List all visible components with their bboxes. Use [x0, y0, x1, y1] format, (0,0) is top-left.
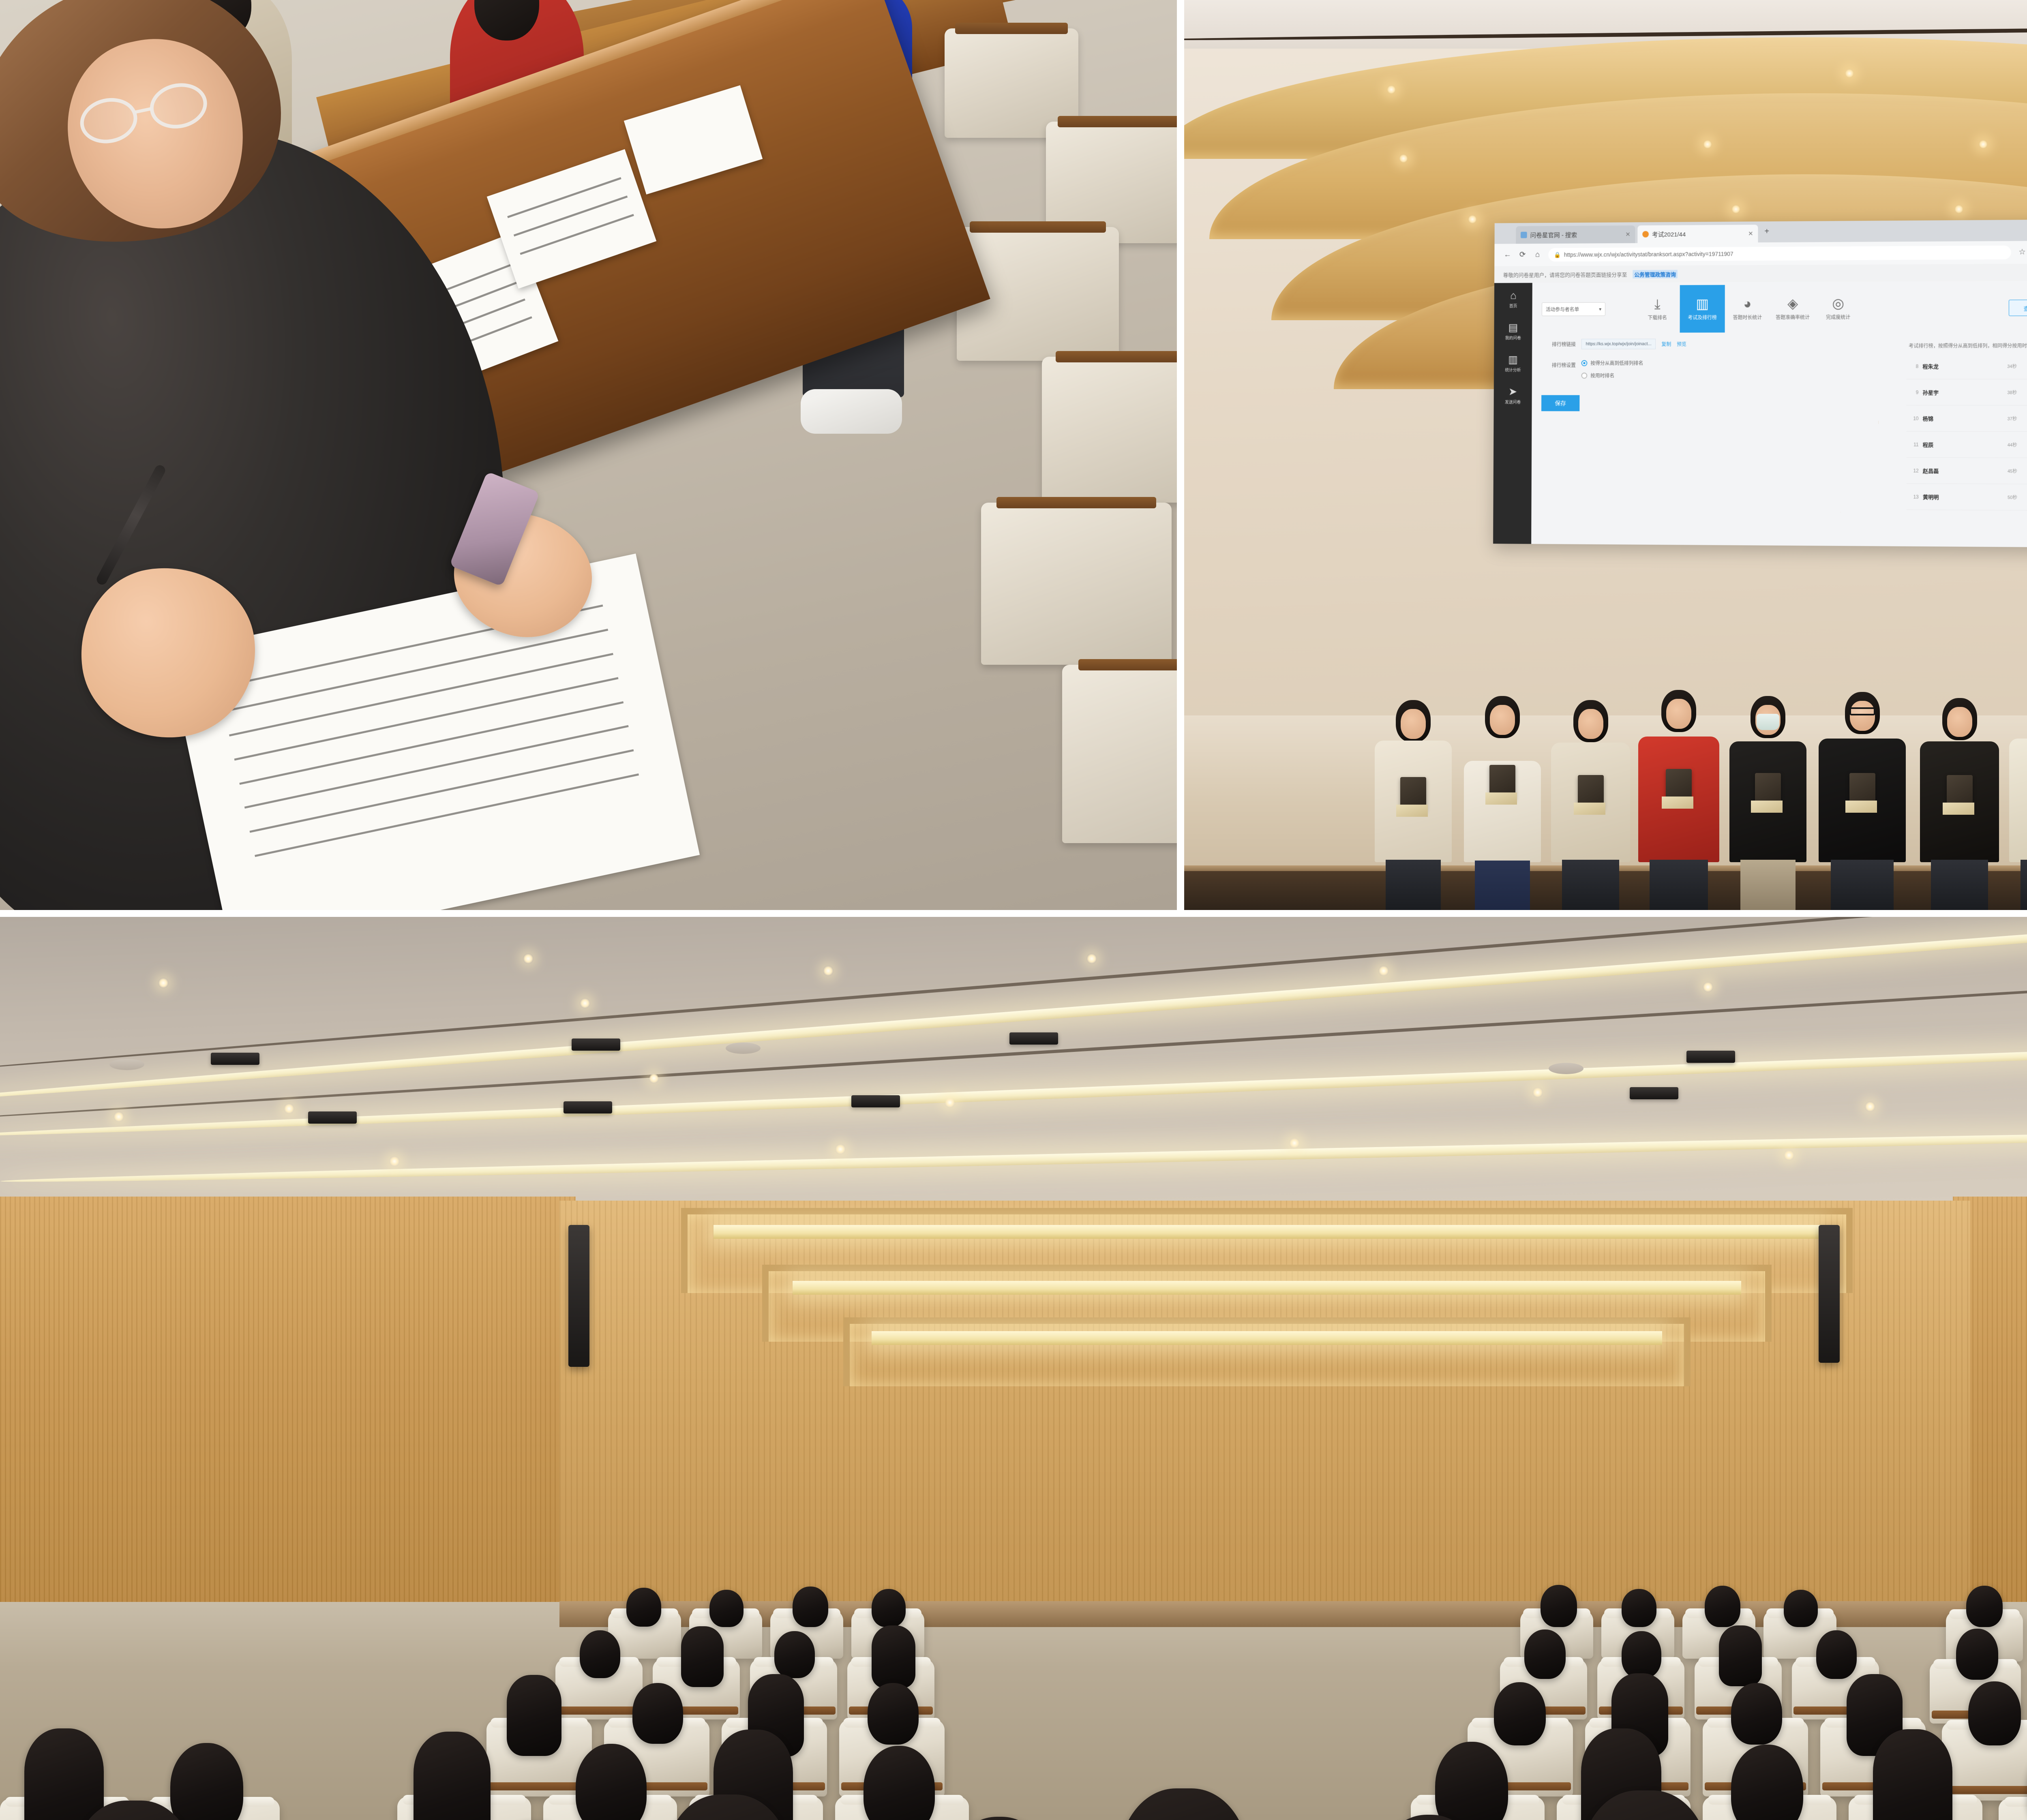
person-face: [1490, 705, 1515, 735]
rank-value: 9: [1906, 390, 1922, 395]
app-sidebar: ⌂ 首页 ▤ 我的问卷 ▥ 统计分析 ➤ 发送问卷: [1493, 283, 1532, 544]
ranking-mode-options: 按得分从高到低排列排名 按用时排名: [1581, 360, 1643, 385]
ranking-table: 考试排行榜，按照得分从高到低排列，相同得分按用时排序。 8 程朱龙 34秒 90…: [1906, 342, 2027, 511]
notice-text: 尊敬的问卷星用户，请将您的问卷答题页面链接分享至: [1503, 270, 1627, 278]
ceiling-downlight: [523, 953, 534, 964]
ceiling-downlight: [1865, 1101, 1875, 1112]
radio-sort-by-time[interactable]: 按用时排名: [1581, 372, 1643, 379]
mode-label: 排行榜设置: [1541, 360, 1575, 369]
audience-head: [872, 1625, 915, 1688]
person-legs: [1650, 860, 1708, 910]
audience-head: [580, 1630, 620, 1678]
rank-value: 12: [1906, 468, 1922, 473]
ceiling-downlight: [1086, 953, 1097, 964]
name-value: 赵昌磊: [1923, 467, 2008, 475]
ceiling-downlight: [823, 966, 834, 976]
audience-head: [1968, 1681, 2021, 1745]
audience-head: [709, 1590, 744, 1627]
table-row: 8 程朱龙 34秒 90 🗑: [1906, 353, 2027, 379]
sidebar-label: 发送问卷: [1505, 399, 1521, 405]
name-value: 程朱龙: [1923, 362, 2008, 370]
table-row: 11 程辰 44秒 90 🗑: [1906, 432, 2027, 458]
tab-close-icon[interactable]: ✕: [1625, 231, 1630, 238]
ceiling-downlight: [158, 978, 169, 988]
radio-label: 按得分从高到低排列排名: [1590, 360, 1643, 366]
stat-toolbar: 活动参与者名单 ▾ ⤓ 下载排名 ▥ 考试及排行榜 ◕: [1532, 280, 2027, 336]
person-legs: [1386, 860, 1441, 910]
url-input[interactable]: 🔒 https://www.wjx.cn/wjx/activitystat/br…: [1548, 246, 2011, 262]
app-main-area: 活动参与者名单 ▾ ⤓ 下载排名 ▥ 考试及排行榜 ◕: [1531, 280, 2027, 547]
photo-collage: 问卷星官网 - 搜索 ✕ 考试2021/44 ✕ + ← ⟳ ⌂ 🔒 https…: [0, 0, 2027, 1820]
table-row: 10 杨锦 37秒 90 🗑: [1906, 405, 2027, 432]
projected-browser-screen: 问卷星官网 - 搜索 ✕ 考试2021/44 ✕ + ← ⟳ ⌂ 🔒 https…: [1493, 219, 2027, 547]
browser-tab-inactive[interactable]: 问卷星官网 - 搜索 ✕: [1516, 225, 1635, 244]
panel-auditorium-wide: NUAA 民航学院2022级研究生法制以及安全警示教育 大会 2022年11月: [0, 917, 2027, 1820]
audience-head: [414, 1732, 491, 1820]
tool-accuracy-stat[interactable]: ◈ 答题准确率统计: [1770, 285, 1815, 332]
radio-sort-by-score[interactable]: 按得分从高到低排列排名: [1581, 360, 1643, 366]
tab-close-icon[interactable]: ✕: [1748, 230, 1753, 237]
tool-label: 答题准确率统计: [1776, 314, 1810, 321]
ceiling-downlight: [284, 1103, 294, 1114]
audience-head: [626, 1588, 661, 1627]
sidebar-item-my-surveys[interactable]: ▤ 我的问卷: [1505, 322, 1521, 341]
ranking-mode-row: 排行榜设置 按得分从高到低排列排名 按用时排名: [1541, 360, 1847, 385]
rank-value: 11: [1906, 441, 1922, 447]
ceiling-downlight: [945, 1097, 955, 1108]
ceiling-downlight: [1289, 1138, 1300, 1148]
send-icon: ➤: [1508, 386, 1517, 397]
award-notebook: [1755, 773, 1781, 807]
audience-head: [1966, 1586, 2003, 1627]
audience-head: [1784, 1590, 1818, 1627]
home-icon[interactable]: ⌂: [1533, 251, 1542, 259]
lock-icon: 🔒: [1554, 251, 1561, 258]
browser-url-bar: ← ⟳ ⌂ 🔒 https://www.wjx.cn/wjx/activitys…: [1494, 241, 2027, 266]
sidebar-label: 我的问卷: [1505, 334, 1521, 340]
sidebar-label: 首页: [1509, 302, 1517, 308]
ceiling-downlight: [1731, 205, 1740, 214]
select-value: 活动参与者名单: [1546, 306, 1579, 313]
person-legs: [1931, 860, 1988, 910]
tool-completion-stat[interactable]: ◎ 完成度统计: [1815, 285, 1861, 332]
new-tab-button[interactable]: +: [1764, 227, 1769, 236]
radio-icon: [1581, 373, 1587, 379]
seat-row-item: [981, 503, 1172, 665]
url-text: https://www.wjx.cn/wjx/activitystat/bran…: [1564, 251, 1733, 258]
award-recipient: [1920, 698, 1999, 862]
audience-head: [1494, 1682, 1546, 1745]
ceiling-speaker: [308, 1111, 357, 1124]
audience-head: [576, 1744, 647, 1820]
favorite-icon[interactable]: ☆: [2018, 248, 2027, 257]
check-circle-icon: ◎: [1832, 296, 1844, 310]
ceiling-speaker: [1009, 1032, 1058, 1045]
name-value: 程辰: [1923, 441, 2008, 449]
person-face: [1401, 709, 1426, 739]
time-value: 38秒: [2007, 389, 2027, 396]
audience-head: [1524, 1629, 1566, 1679]
ceiling-downlight: [1784, 1150, 1794, 1161]
audience-head: [872, 1589, 906, 1627]
ceiling-speaker: [1686, 1051, 1735, 1063]
stage-light-band: [714, 1225, 1820, 1239]
person-legs: [1562, 860, 1619, 910]
reload-icon[interactable]: ⟳: [1518, 251, 1527, 259]
award-recipient: [1551, 700, 1630, 862]
table-row: 12 赵昌磊 45秒 90 🗑: [1906, 458, 2027, 484]
audience-head: [1541, 1585, 1577, 1627]
face-mask-icon: [1757, 714, 1779, 730]
ceiling-speaker: [851, 1095, 900, 1107]
ceiling-downlight: [1468, 215, 1477, 224]
award-recipient: [1729, 696, 1806, 862]
award-notebook: [1947, 775, 1973, 809]
audience-head: [24, 1728, 104, 1820]
person-legs: [1740, 860, 1796, 910]
tool-label: 下载排名: [1648, 314, 1667, 321]
audience-head: [1873, 1729, 1952, 1820]
ceiling-downlight: [1845, 69, 1854, 78]
ceiling-downlight: [1378, 966, 1389, 976]
award-notebook: [1666, 769, 1692, 803]
ceiling-downlight: [1954, 205, 1963, 214]
ceiling-vent: [109, 1059, 144, 1070]
ceiling-downlight: [1387, 85, 1396, 94]
clock-icon: ◕: [1743, 297, 1751, 310]
person-legs: [1475, 861, 1530, 910]
person-torso: [2009, 739, 2027, 862]
tool-label: 完成度统计: [1826, 313, 1850, 320]
audience-head: [1719, 1625, 1762, 1686]
line-array-speaker: [1819, 1225, 1840, 1363]
ceiling-downlight: [389, 1156, 400, 1167]
person-face: [1666, 699, 1691, 729]
sidebar-item-analysis[interactable]: ▥ 统计分析: [1505, 354, 1521, 373]
ceiling-downlight: [835, 1144, 846, 1154]
browser-tab-bar: 问卷星官网 - 搜索 ✕ 考试2021/44 ✕ +: [1495, 219, 2027, 244]
name-value: 黄明明: [1923, 493, 2008, 501]
audience-head: [681, 1626, 724, 1687]
audience-head: [774, 1631, 815, 1678]
award-recipient: [1819, 692, 1906, 862]
person-face: [1850, 701, 1875, 731]
award-notebook: [1578, 775, 1604, 809]
audience-seat: [1999, 1799, 2027, 1820]
seat-row-item: [1062, 665, 1177, 843]
ceiling-vent: [726, 1043, 761, 1054]
student-shoe: [801, 389, 902, 434]
ceiling-downlight: [1399, 154, 1408, 163]
preview-button[interactable]: 预览: [1677, 339, 1686, 348]
audience-head: [1622, 1631, 1661, 1678]
time-value: 44秒: [2008, 441, 2027, 448]
radio-icon-selected: [1581, 360, 1588, 366]
name-value: 孙星宇: [1923, 388, 2008, 396]
target-icon: ◈: [1787, 297, 1798, 310]
ceiling-downlight: [1703, 982, 1713, 992]
person-legs: [1831, 860, 1894, 910]
audience-head: [1956, 1629, 1998, 1680]
table-row: 9 孙星宇 38秒 90 🗑: [1906, 379, 2027, 406]
line-array-speaker: [568, 1225, 589, 1367]
ceiling-speaker: [211, 1053, 259, 1065]
save-button[interactable]: 保存: [1541, 395, 1579, 411]
radio-label: 按用时排名: [1590, 372, 1614, 379]
ceiling-speaker: [572, 1038, 620, 1051]
seat-row-item: [1042, 357, 1177, 503]
time-value: 45秒: [2008, 468, 2027, 474]
audience-head: [632, 1683, 683, 1744]
left-wood-wall: [0, 1197, 576, 1606]
tool-label: 答题时长统计: [1733, 314, 1762, 321]
audience-head: [868, 1683, 919, 1745]
tab-label: 考试2021/44: [1652, 230, 1686, 238]
audience-head: [1705, 1586, 1740, 1627]
tab-favicon-search: [1521, 232, 1527, 238]
time-value: 34秒: [2007, 363, 2027, 369]
ceiling-vent: [1549, 1063, 1583, 1074]
person-legs: [2021, 860, 2027, 910]
award-recipient: [1464, 696, 1541, 862]
ranking-settings-form: 排行榜链接 https://ks.wjx.top/wjx/join/joinac…: [1541, 338, 1847, 411]
eyeglasses-icon: [1849, 707, 1875, 715]
ceiling-downlight: [1703, 140, 1712, 149]
sidebar-item-home[interactable]: ⌂ 首页: [1509, 290, 1517, 308]
award-recipient: [1375, 700, 1452, 862]
stage-light-frame-inner: [843, 1317, 1691, 1386]
sidebar-item-send[interactable]: ➤ 发送问卷: [1505, 386, 1521, 405]
stage-light-band: [872, 1331, 1662, 1345]
sidebar-label: 统计分析: [1505, 366, 1521, 373]
browser-tab-active[interactable]: 考试2021/44 ✕: [1637, 225, 1758, 243]
ranking-icon: ▥: [1696, 297, 1709, 310]
audience-head: [1731, 1683, 1782, 1745]
time-value: 37秒: [2008, 415, 2027, 422]
award-notebook: [1400, 777, 1426, 811]
rank-value: 8: [1906, 363, 1922, 369]
tool-download-ranking[interactable]: ⤓ 下载排名: [1635, 285, 1680, 332]
ceiling-speaker: [564, 1101, 612, 1113]
tool-label: 考试及排行榜: [1688, 314, 1716, 321]
name-value: 杨锦: [1923, 414, 2008, 422]
time-value: 50秒: [2008, 494, 2027, 501]
audience-head: [1816, 1630, 1857, 1679]
tool-exam-ranking[interactable]: ▥ 考试及排行榜: [1680, 285, 1725, 333]
tab-favicon-wjx: [1642, 231, 1649, 238]
copy-button[interactable]: 复制: [1661, 339, 1671, 348]
person-face: [1578, 709, 1603, 739]
document-icon: ▤: [1508, 322, 1518, 333]
panel-divider-horizontal: [0, 910, 2027, 917]
notice-link[interactable]: 公务管理政策咨询: [1633, 270, 1678, 278]
rank-value: 10: [1906, 415, 1922, 421]
ceiling-downlight: [1532, 1087, 1543, 1098]
download-icon: ⤓: [1654, 297, 1661, 311]
audience-head: [793, 1587, 828, 1627]
tool-duration-stat[interactable]: ◕ 答题时长统计: [1725, 285, 1770, 333]
browser-content: ⌂ 首页 ▤ 我的问卷 ▥ 统计分析 ➤ 发送问卷: [1493, 280, 2027, 547]
ranking-link-value[interactable]: https://ks.wjx.top/wjx/join/joinact...: [1581, 339, 1656, 349]
audience-head: [1622, 1589, 1656, 1627]
audience-head: [507, 1675, 561, 1756]
panel-students-signing: [0, 0, 1177, 910]
view-full-ranking-button[interactable]: 查看全部榜单: [2009, 300, 2027, 316]
link-label: 排行榜链接: [1542, 339, 1576, 348]
chart-icon: ▥: [1508, 354, 1518, 365]
rank-value: 13: [1907, 494, 1923, 499]
home-icon: ⌂: [1510, 290, 1516, 301]
ceiling-speaker: [1630, 1087, 1678, 1099]
ranking-link-row: 排行榜链接 https://ks.wjx.top/wjx/join/joinac…: [1542, 338, 1848, 349]
award-notebook: [1489, 765, 1515, 799]
panel-divider-vertical: [1177, 0, 1184, 910]
ceiling-downlight: [114, 1111, 124, 1122]
back-arrow-icon[interactable]: ←: [1503, 251, 1512, 259]
ceiling-downlight: [1979, 140, 1988, 149]
chevron-down-icon: ▾: [1599, 306, 1601, 312]
activity-select[interactable]: 活动参与者名单 ▾: [1542, 302, 1605, 316]
person-face: [1947, 707, 1972, 737]
ranking-header-note: 考试排行榜，按照得分从高到低排列，相同得分按用时排序。: [1906, 342, 2027, 353]
ceiling-downlight: [649, 1073, 659, 1083]
award-recipient: [2009, 692, 2027, 862]
tab-label: 问卷星官网 - 搜索: [1530, 230, 1577, 239]
table-row: 13 黄明明 50秒 90 🗑: [1907, 484, 2027, 511]
award-notebook: [1849, 773, 1875, 807]
panel-award-group-photo: 问卷星官网 - 搜索 ✕ 考试2021/44 ✕ + ← ⟳ ⌂ 🔒 https…: [1184, 0, 2027, 910]
site-notice-bar: 尊敬的问卷星用户，请将您的问卷答题页面链接分享至 公务管理政策咨询: [1494, 263, 2027, 283]
ceiling-downlight: [580, 998, 590, 1008]
stage-light-band: [793, 1281, 1741, 1295]
award-recipient: [1638, 690, 1719, 862]
